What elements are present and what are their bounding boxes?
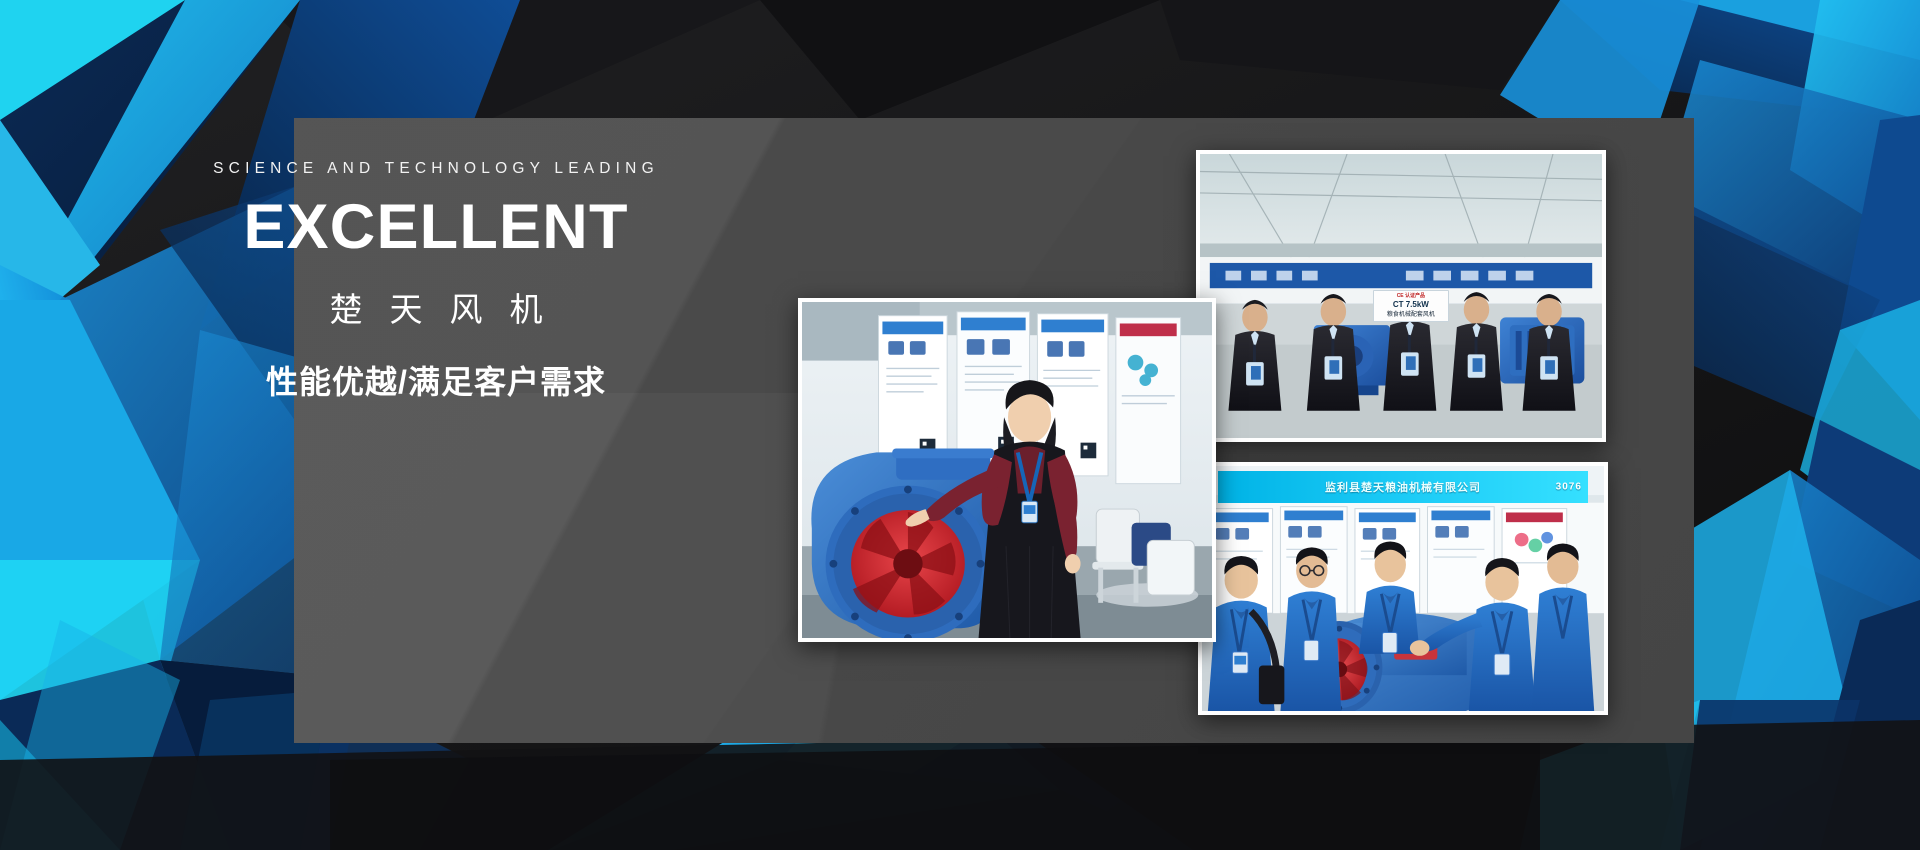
sign-main-text: CT 7.5kW bbox=[1377, 300, 1445, 311]
photo-exhibition-staff-suits[interactable]: CE 认证产品 CT 7.5kW 粮食机械配套风机 bbox=[1196, 150, 1606, 442]
product-sign-label: CE 认证产品 CT 7.5kW 粮食机械配套风机 bbox=[1373, 290, 1449, 322]
photo-inner: CE 认证产品 CT 7.5kW 粮食机械配套风机 bbox=[1200, 154, 1602, 438]
promotional-banner: SCIENCE AND TECHNOLOGY LEADING EXCELLENT… bbox=[0, 0, 1920, 850]
booth-banner-text: 监利县楚天粮油机械有限公司 bbox=[1325, 479, 1481, 495]
photo-team-blue-uniforms[interactable]: 监利县楚天粮油机械有限公司 3076 bbox=[1198, 462, 1608, 715]
sign-top-text: CE 认证产品 bbox=[1377, 293, 1445, 300]
photo-presenter-with-red-fan[interactable] bbox=[798, 298, 1216, 642]
booth-number: 3076 bbox=[1556, 481, 1582, 492]
photo-inner: 监利县楚天粮油机械有限公司 3076 bbox=[1202, 466, 1604, 711]
slogan-text: 性能优越/满足客户需求 bbox=[106, 357, 766, 403]
booth-banner: 监利县楚天粮油机械有限公司 3076 bbox=[1218, 471, 1588, 503]
eyebrow-text: SCIENCE AND TECHNOLOGY LEADING bbox=[106, 160, 766, 178]
photo-inner bbox=[802, 302, 1212, 638]
sign-sub-text: 粮食机械配套风机 bbox=[1387, 312, 1435, 318]
page-title: EXCELLENT bbox=[106, 196, 766, 259]
headline-copy-block: SCIENCE AND TECHNOLOGY LEADING EXCELLENT… bbox=[106, 160, 766, 403]
brand-name-cn: 楚天风机 bbox=[106, 283, 766, 331]
